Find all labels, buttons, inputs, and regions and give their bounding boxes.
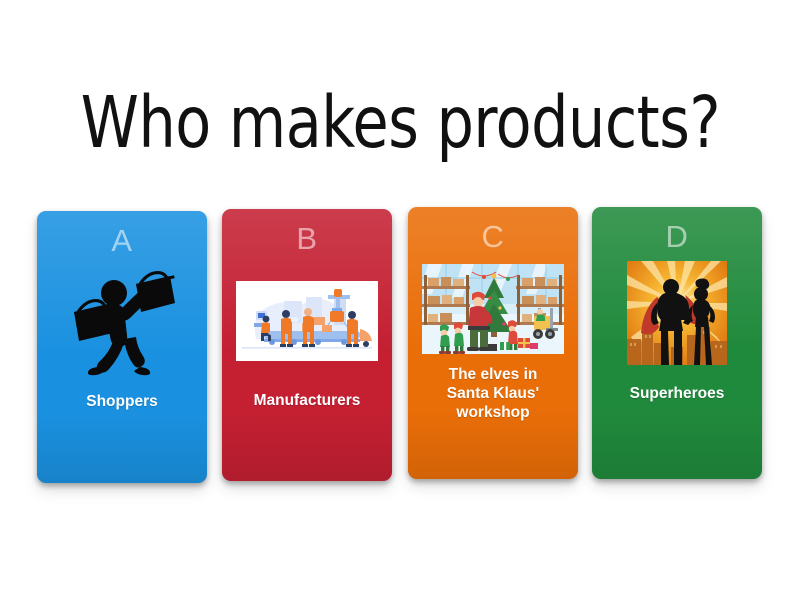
answer-card-d[interactable]: D (592, 207, 762, 479)
answer-label-b: Manufacturers (228, 392, 386, 411)
quiz-stage: Who makes products? A (0, 0, 800, 600)
santa-workshop-warehouse-image (422, 264, 564, 354)
answer-media-d (592, 257, 762, 369)
answer-letter-b: B (222, 223, 392, 254)
answer-card-c[interactable]: C (408, 207, 578, 479)
superheroes-silhouette-image (627, 261, 727, 365)
answer-letter-a: A (37, 225, 207, 256)
answer-card-b[interactable]: B (222, 209, 392, 481)
answer-media-b (222, 279, 392, 363)
answer-options-grid: A (0, 0, 800, 600)
answer-letter-d: D (592, 221, 762, 252)
answer-label-a: Shoppers (43, 393, 201, 412)
answer-card-a[interactable]: A (37, 211, 207, 483)
factory-workers-illustration-image (236, 281, 378, 361)
answer-letter-c: C (408, 221, 578, 252)
answer-media-c (408, 261, 578, 357)
shopper-silhouette-image (62, 267, 182, 379)
answer-label-d: Superheroes (598, 385, 756, 404)
answer-media-a (37, 267, 207, 379)
answer-label-c: The elves inSanta Klaus'workshop (414, 366, 572, 423)
